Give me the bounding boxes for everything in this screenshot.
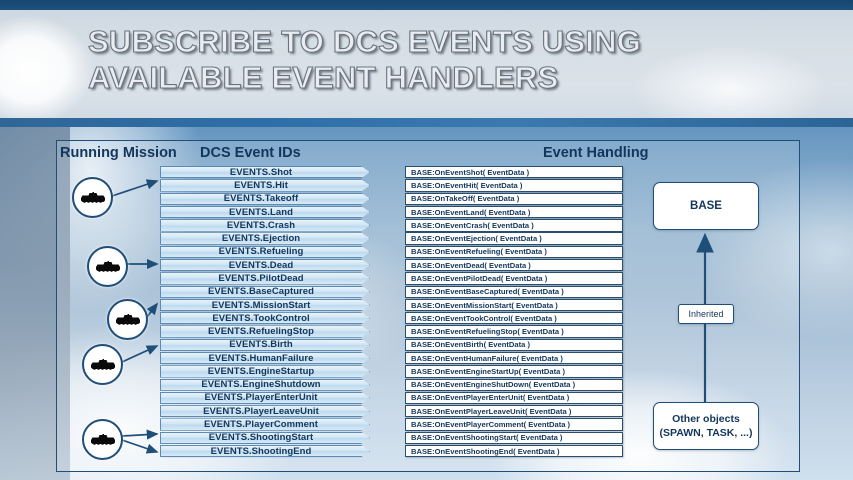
event-handler-row[interactable]: BASE:OnEventPlayerEnterUnit( EventData ) xyxy=(405,392,623,404)
event-handler-row[interactable]: BASE:OnEventBirth( EventData ) xyxy=(405,339,623,351)
event-handler-row[interactable]: BASE:OnEventTookControl( EventData ) xyxy=(405,312,623,324)
armored-vehicle-icon xyxy=(90,432,116,447)
armored-vehicle-icon xyxy=(95,259,121,274)
base-class-box[interactable]: BASE xyxy=(653,182,759,230)
dcs-event-ids-list: EVENTS.ShotEVENTS.HitEVENTS.TakeoffEVENT… xyxy=(160,166,370,458)
event-handler-row[interactable]: BASE:OnEventEngineStartUp( EventData ) xyxy=(405,365,623,377)
event-id-row[interactable]: EVENTS.EngineShutdown xyxy=(160,379,370,391)
event-handler-row[interactable]: BASE:OnEventRefuelingStop( EventData ) xyxy=(405,325,623,337)
top-accent-strip xyxy=(0,0,853,10)
event-handling-list: BASE:OnEventShot( EventData )BASE:OnEven… xyxy=(405,166,623,458)
inherited-relation-label: Inherited xyxy=(678,304,734,324)
event-handler-row[interactable]: BASE:OnEventHumanFailure( EventData ) xyxy=(405,352,623,364)
event-id-row[interactable]: EVENTS.Shot xyxy=(160,166,370,178)
event-id-row[interactable]: EVENTS.Hit xyxy=(160,179,370,191)
event-handler-row[interactable]: BASE:OnEventPilotDead( EventData ) xyxy=(405,272,623,284)
event-handler-row[interactable]: BASE:OnEventShootingEnd( EventData ) xyxy=(405,445,623,457)
event-handler-row[interactable]: BASE:OnEventHit( EventData ) xyxy=(405,179,623,191)
event-id-row[interactable]: EVENTS.PlayerEnterUnit xyxy=(160,392,370,404)
event-handler-row[interactable]: BASE:OnTakeOff( EventData ) xyxy=(405,193,623,205)
event-id-row[interactable]: EVENTS.PilotDead xyxy=(160,272,370,284)
event-id-row[interactable]: EVENTS.PlayerComment xyxy=(160,418,370,430)
page-title: SUBSCRIBE TO DCS EVENTS USING AVAILABLE … xyxy=(88,24,808,96)
event-handler-row[interactable]: BASE:OnEventCrash( EventData ) xyxy=(405,219,623,231)
other-objects-box[interactable]: Other objects (SPAWN, TASK, ...) xyxy=(653,402,759,450)
event-id-row[interactable]: EVENTS.Birth xyxy=(160,339,370,351)
event-id-row[interactable]: EVENTS.ShootingStart xyxy=(160,432,370,444)
event-id-row[interactable]: EVENTS.ShootingEnd xyxy=(160,445,370,457)
unit-icon-1 xyxy=(72,177,113,218)
event-handler-row[interactable]: BASE:OnEventShootingStart( EventData ) xyxy=(405,432,623,444)
unit-icon-2 xyxy=(87,246,128,287)
event-id-row[interactable]: EVENTS.TookControl xyxy=(160,312,370,324)
armored-vehicle-icon xyxy=(90,357,116,372)
event-handler-row[interactable]: BASE:OnEventPlayerComment( EventData ) xyxy=(405,418,623,430)
event-handler-row[interactable]: BASE:OnEventLand( EventData ) xyxy=(405,206,623,218)
event-id-row[interactable]: EVENTS.Crash xyxy=(160,219,370,231)
event-handler-row[interactable]: BASE:OnEventEjection( EventData ) xyxy=(405,232,623,244)
column-header-event-handling: Event Handling xyxy=(543,145,649,161)
event-handler-row[interactable]: BASE:OnEventPlayerLeaveUnit( EventData ) xyxy=(405,405,623,417)
event-handler-row[interactable]: BASE:OnEventDead( EventData ) xyxy=(405,259,623,271)
event-handler-row[interactable]: BASE:OnEventBaseCaptured( EventData ) xyxy=(405,286,623,298)
unit-icon-4 xyxy=(82,344,123,385)
unit-icon-5 xyxy=(82,419,123,460)
event-handler-row[interactable]: BASE:OnEventShot( EventData ) xyxy=(405,166,623,178)
event-handler-row[interactable]: BASE:OnEventMissionStart( EventData ) xyxy=(405,299,623,311)
event-id-row[interactable]: EVENTS.PlayerLeaveUnit xyxy=(160,405,370,417)
event-id-row[interactable]: EVENTS.EngineStartup xyxy=(160,365,370,377)
event-id-row[interactable]: EVENTS.Land xyxy=(160,206,370,218)
event-id-row[interactable]: EVENTS.Ejection xyxy=(160,232,370,244)
event-id-row[interactable]: EVENTS.Takeoff xyxy=(160,193,370,205)
armored-vehicle-icon xyxy=(80,190,106,205)
event-id-row[interactable]: EVENTS.BaseCaptured xyxy=(160,286,370,298)
event-id-row[interactable]: EVENTS.HumanFailure xyxy=(160,352,370,364)
event-id-row[interactable]: EVENTS.Dead xyxy=(160,259,370,271)
event-handler-row[interactable]: BASE:OnEventEngineShutDown( EventData ) xyxy=(405,379,623,391)
column-header-dcs-event-ids: DCS Event IDs xyxy=(200,145,301,161)
slide-root: SUBSCRIBE TO DCS EVENTS USING AVAILABLE … xyxy=(0,0,853,480)
armored-vehicle-icon xyxy=(115,312,141,327)
event-id-row[interactable]: EVENTS.RefuelingStop xyxy=(160,325,370,337)
unit-icon-3 xyxy=(107,299,148,340)
event-handler-row[interactable]: BASE:OnEventRefueling( EventData ) xyxy=(405,246,623,258)
title-divider-bar xyxy=(0,118,853,127)
event-id-row[interactable]: EVENTS.Refueling xyxy=(160,246,370,258)
event-id-row[interactable]: EVENTS.MissionStart xyxy=(160,299,370,311)
column-header-running-mission: Running Mission xyxy=(60,145,177,161)
